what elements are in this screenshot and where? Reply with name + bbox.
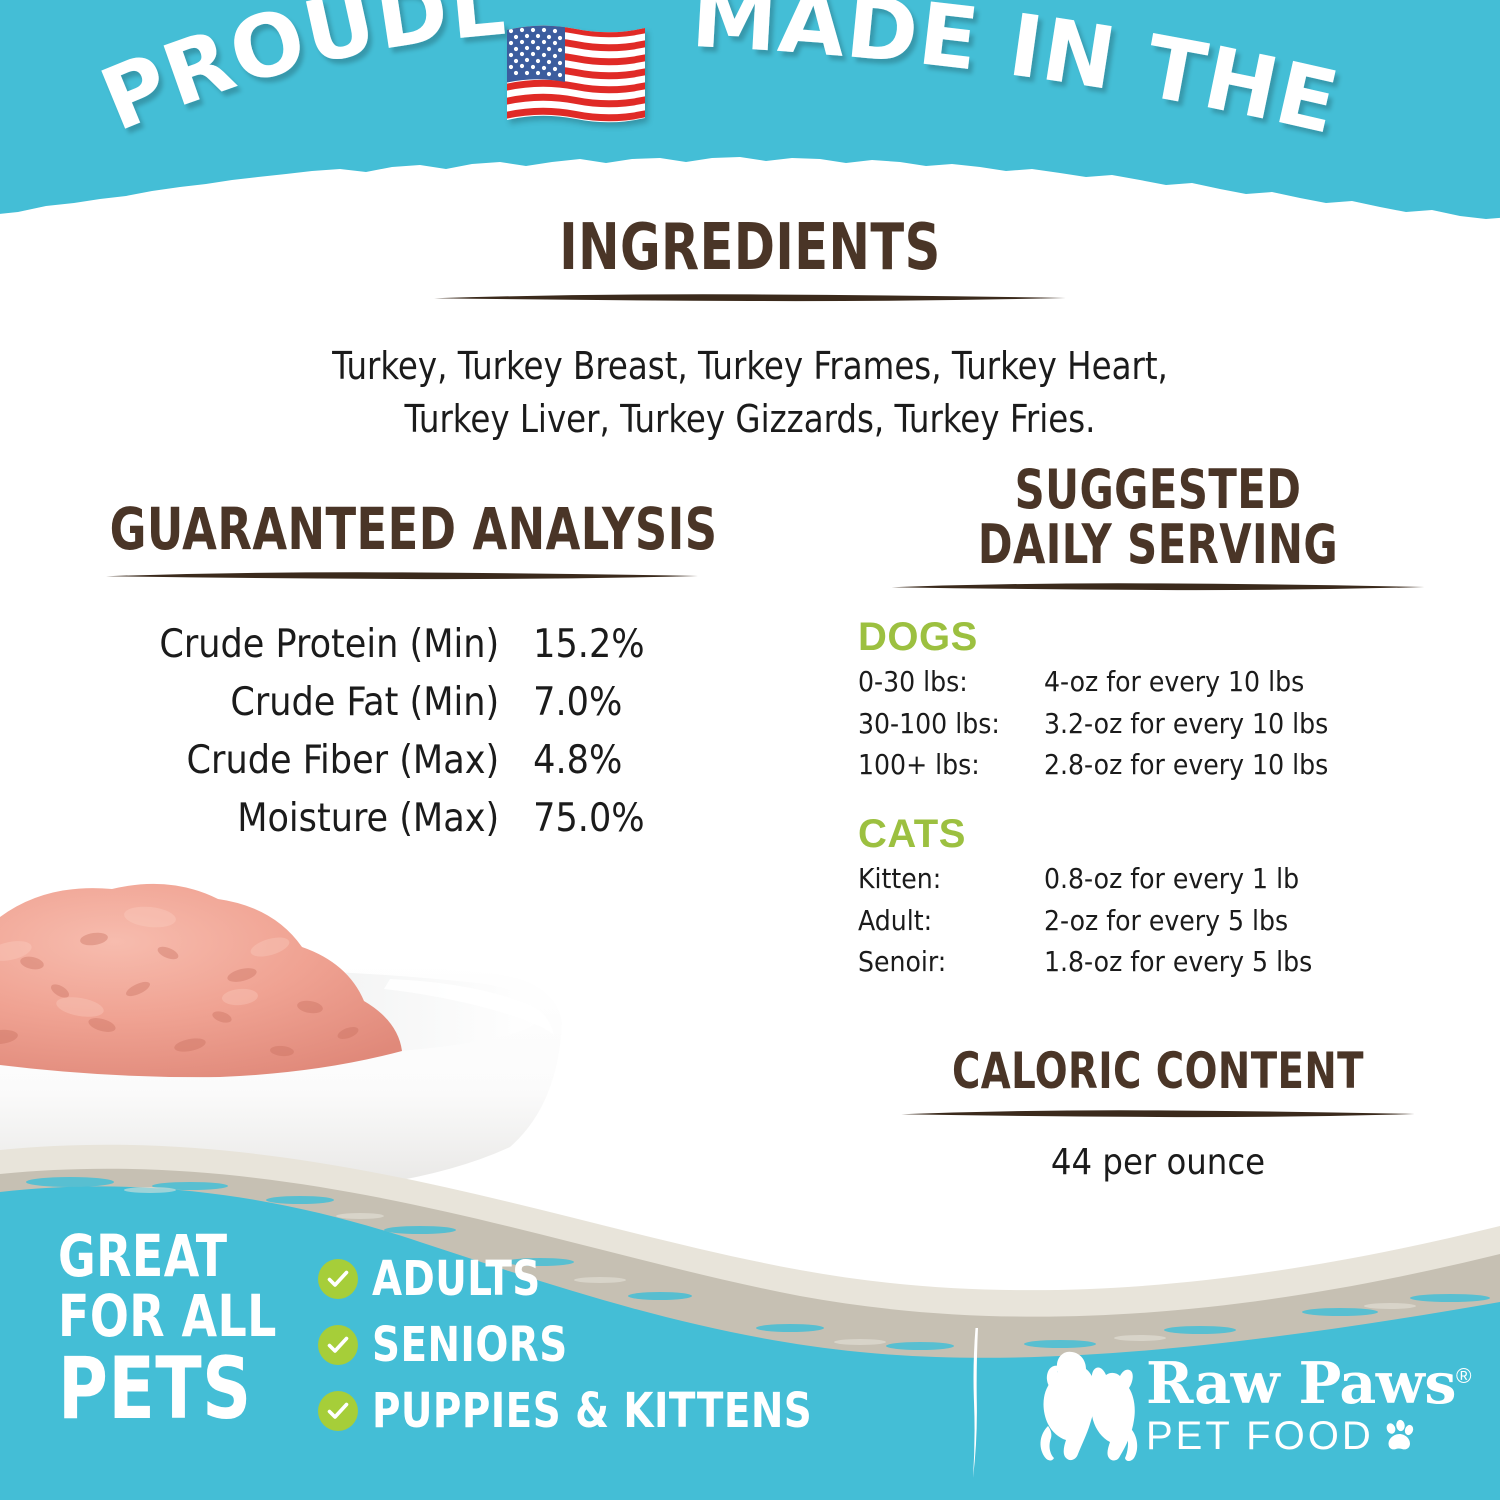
table-row: Crude Fiber (Max) 4.8% <box>159 732 644 790</box>
brush-underline <box>888 580 1428 593</box>
header-torn-edge <box>0 0 1500 230</box>
registered-trademark-icon: ® <box>1456 1365 1471 1388</box>
list-item: SENIORS <box>318 1318 861 1372</box>
ingredients-line-1: Turkey, Turkey Breast, Turkey Frames, Tu… <box>228 340 1273 392</box>
ga-value: 15.2% <box>533 616 644 674</box>
guaranteed-analysis-table: Crude Protein (Min) 15.2% Crude Fat (Min… <box>159 616 644 848</box>
guaranteed-analysis-section: GUARANTEED ANALYSIS Crude Protein (Min) … <box>62 500 742 848</box>
logo-subtitle-text: PET FOOD <box>1146 1416 1374 1456</box>
ingredients-heading: INGREDIENTS <box>277 216 1223 281</box>
caloric-content-heading: CALORIC CONTENT <box>900 1046 1416 1097</box>
serving-range: 0-30 lbs: <box>858 661 1044 703</box>
ingredients-text: Turkey, Turkey Breast, Turkey Frames, Tu… <box>228 340 1273 445</box>
dog-and-cat-silhouette-icon <box>1028 1342 1140 1468</box>
ga-label: Moisture (Max) <box>159 790 533 848</box>
ga-value: 7.0% <box>533 674 644 732</box>
serving-amount: 1.8-oz for every 5 lbs <box>1044 941 1312 983</box>
table-row: Moisture (Max) 75.0% <box>159 790 644 848</box>
brush-underline <box>898 1107 1418 1120</box>
serving-amount: 2-oz for every 5 lbs <box>1044 900 1312 942</box>
ga-label: Crude Fiber (Max) <box>159 732 533 790</box>
ga-value: 4.8% <box>533 732 644 790</box>
brush-underline <box>430 291 1070 304</box>
great-line-1: GREAT <box>58 1226 277 1286</box>
great-for-all-pets-text: GREAT FOR ALL PETS <box>58 1226 277 1431</box>
serving-range: Kitten: <box>858 858 1044 900</box>
logo-brand-text: Raw Paws <box>1146 1350 1456 1417</box>
list-item: PUPPIES & KITTENS <box>318 1384 861 1438</box>
serving-amount: 3.2-oz for every 10 lbs <box>1044 703 1328 745</box>
table-row: 0-30 lbs: 4-oz for every 10 lbs <box>858 661 1328 703</box>
serving-amount: 2.8-oz for every 10 lbs <box>1044 744 1328 786</box>
table-row: 30-100 lbs: 3.2-oz for every 10 lbs <box>858 703 1328 745</box>
serving-heading-line-2: DAILY SERVING <box>900 517 1416 572</box>
check-icon <box>318 1325 358 1365</box>
product-label: PROUDLY MADE IN THE USA <box>0 0 1500 1500</box>
ingredients-line-2: Turkey Liver, Turkey Gizzards, Turkey Fr… <box>228 393 1273 445</box>
table-row: Senoir: 1.8-oz for every 5 lbs <box>858 941 1312 983</box>
check-icon <box>318 1259 358 1299</box>
cats-title: CATS <box>858 812 1458 856</box>
serving-heading-line-1: SUGGESTED <box>900 462 1416 517</box>
dogs-serving-group: DOGS 0-30 lbs: 4-oz for every 10 lbs 30-… <box>858 615 1458 786</box>
ga-label: Crude Fat (Min) <box>159 674 533 732</box>
serving-range: Senoir: <box>858 941 1044 983</box>
ingredients-section: INGREDIENTS Turkey, Turkey Breast, Turke… <box>200 216 1300 445</box>
table-row: 100+ lbs: 2.8-oz for every 10 lbs <box>858 744 1328 786</box>
serving-amount: 0.8-oz for every 1 lb <box>1044 858 1312 900</box>
suggested-daily-serving-section: SUGGESTED DAILY SERVING DOGS 0-30 lbs: 4… <box>858 462 1458 983</box>
great-line-3: PETS <box>58 1347 277 1431</box>
logo-subtitle: PET FOOD <box>1146 1416 1471 1456</box>
vertical-brush-divider <box>968 1328 984 1478</box>
guaranteed-analysis-heading: GUARANTEED ANALYSIS <box>110 500 695 559</box>
dogs-title: DOGS <box>858 615 1458 659</box>
ga-label: Crude Protein (Min) <box>159 616 533 674</box>
pet-type-label: ADULTS <box>372 1255 541 1303</box>
ga-value: 75.0% <box>533 790 644 848</box>
check-icon <box>318 1391 358 1431</box>
table-row: Crude Protein (Min) 15.2% <box>159 616 644 674</box>
pet-type-list: ADULTS SENIORS PUPPIES & KITTENS <box>318 1252 861 1450</box>
paw-print-icon <box>1382 1419 1416 1453</box>
serving-amount: 4-oz for every 10 lbs <box>1044 661 1328 703</box>
logo-wordmark: Raw Paws® PET FOOD <box>1146 1355 1471 1456</box>
usa-flag-icon <box>505 22 647 130</box>
pet-type-label: SENIORS <box>372 1321 568 1369</box>
logo-brand-name: Raw Paws® <box>1146 1355 1471 1412</box>
table-row: Crude Fat (Min) 7.0% <box>159 674 644 732</box>
cats-serving-table: Kitten: 0.8-oz for every 1 lb Adult: 2-o… <box>858 858 1312 983</box>
serving-range: 30-100 lbs: <box>858 703 1044 745</box>
great-line-2: FOR ALL <box>58 1286 277 1346</box>
dogs-serving-table: 0-30 lbs: 4-oz for every 10 lbs 30-100 l… <box>858 661 1328 786</box>
table-row: Adult: 2-oz for every 5 lbs <box>858 900 1312 942</box>
header-banner: PROUDLY MADE IN THE USA <box>0 0 1500 230</box>
table-row: Kitten: 0.8-oz for every 1 lb <box>858 858 1312 900</box>
brush-underline <box>102 569 702 582</box>
cats-serving-group: CATS Kitten: 0.8-oz for every 1 lb Adult… <box>858 812 1458 983</box>
list-item: ADULTS <box>318 1252 861 1306</box>
pet-type-label: PUPPIES & KITTENS <box>372 1387 812 1435</box>
brand-logo: Raw Paws® PET FOOD <box>1028 1330 1458 1480</box>
serving-range: Adult: <box>858 900 1044 942</box>
serving-range: 100+ lbs: <box>858 744 1044 786</box>
